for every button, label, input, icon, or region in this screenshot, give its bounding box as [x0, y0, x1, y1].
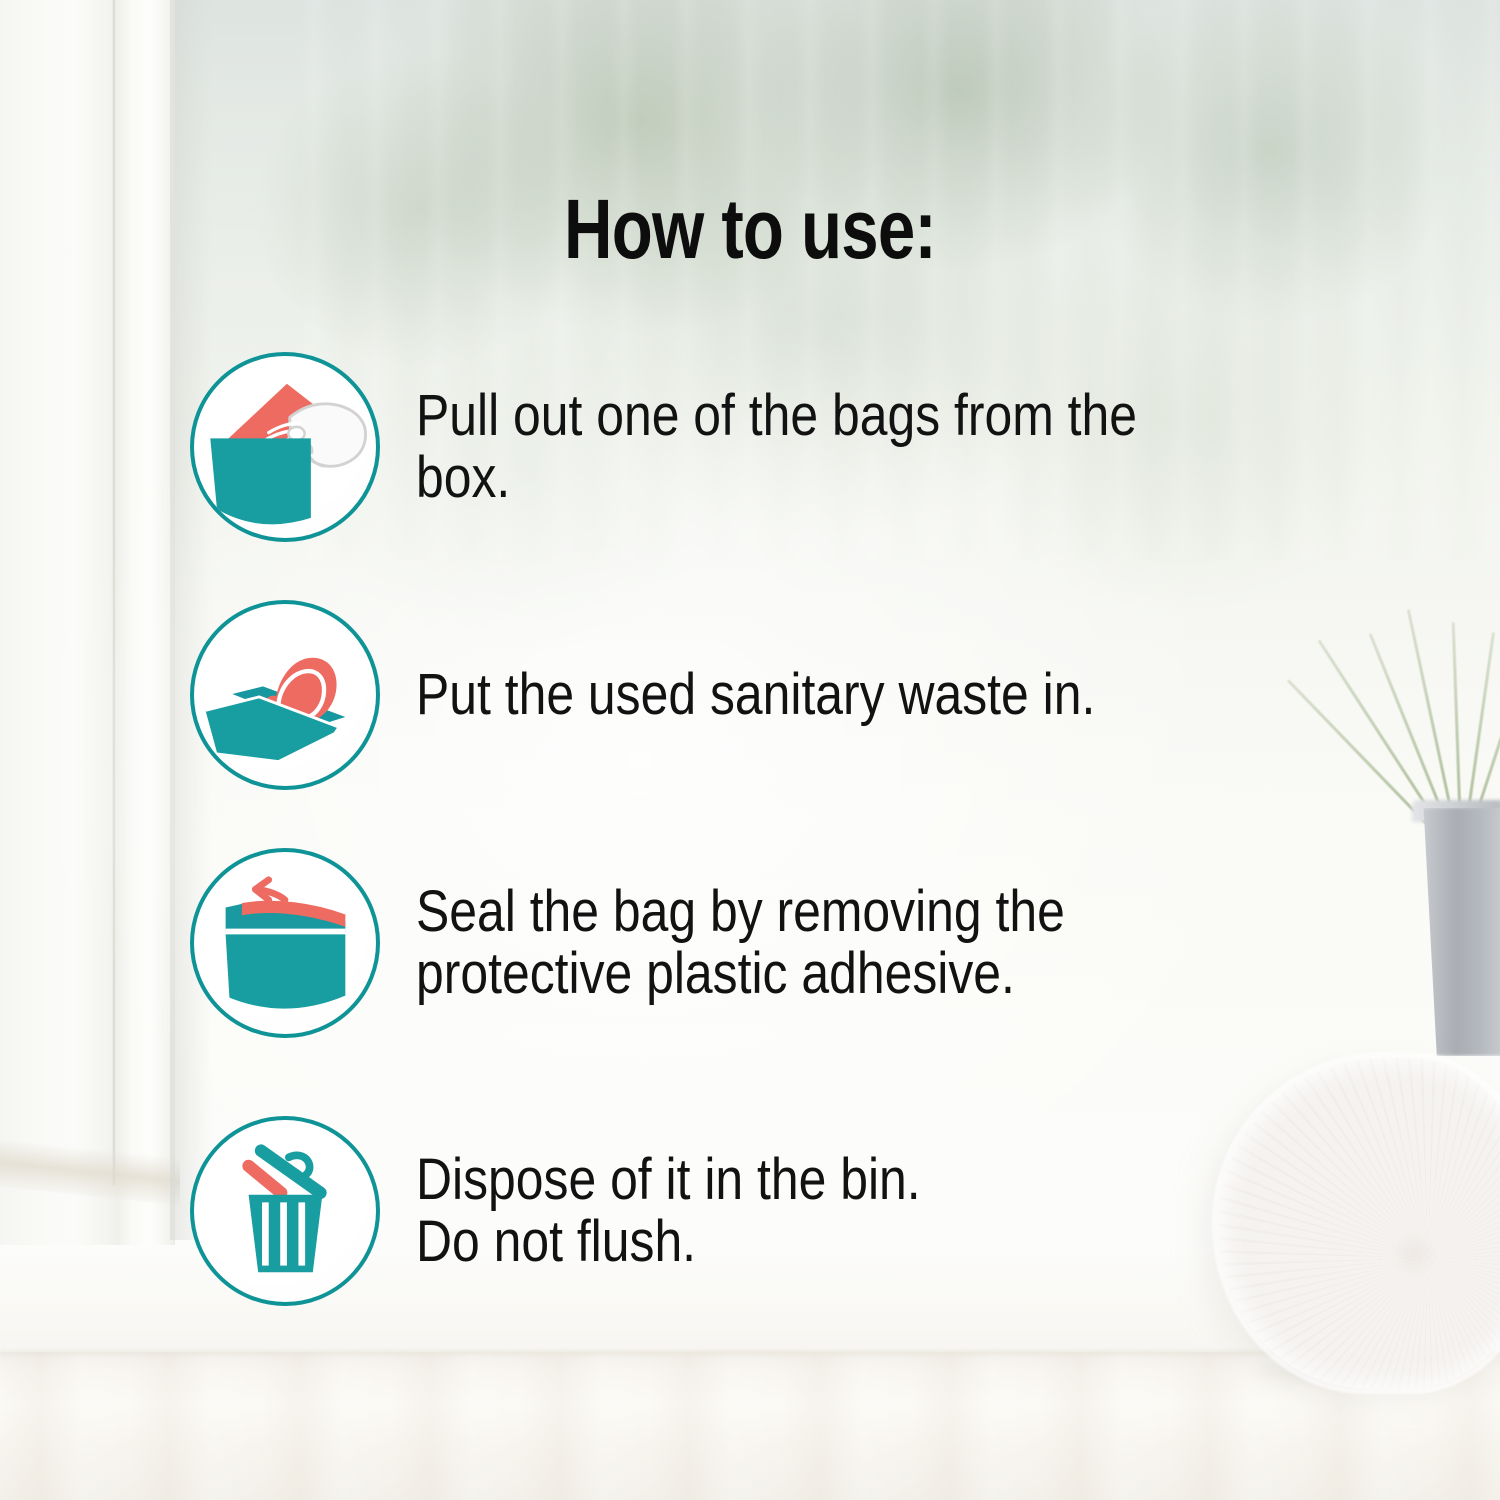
- promo-image-scene: How to use:: [0, 0, 1500, 1500]
- step-item-2: Put the used sanitary waste in.: [0, 600, 1500, 790]
- steps-list: Pull out one of the bags from the box.: [0, 352, 1500, 1306]
- instructions-content: How to use:: [0, 0, 1500, 1500]
- step-item-4: Dispose of it in the bin. Do not flush.: [0, 1116, 1500, 1306]
- put-sanitary-waste-in-bag-icon: [190, 600, 380, 790]
- step-text-3: Seal the bag by removing the protective …: [416, 881, 1348, 1005]
- page-title: How to use:: [150, 183, 1350, 275]
- seal-bag-adhesive-icon: [190, 848, 380, 1038]
- step-item-1: Pull out one of the bags from the box.: [0, 352, 1500, 542]
- pull-bag-from-box-icon: [190, 352, 380, 542]
- step-item-3: Seal the bag by removing the protective …: [0, 848, 1500, 1038]
- step-text-1: Pull out one of the bags from the box.: [416, 385, 1348, 509]
- step-text-4: Dispose of it in the bin. Do not flush.: [416, 1149, 1348, 1273]
- trash-bin-icon: [190, 1116, 380, 1306]
- step-text-2: Put the used sanitary waste in.: [416, 664, 1348, 726]
